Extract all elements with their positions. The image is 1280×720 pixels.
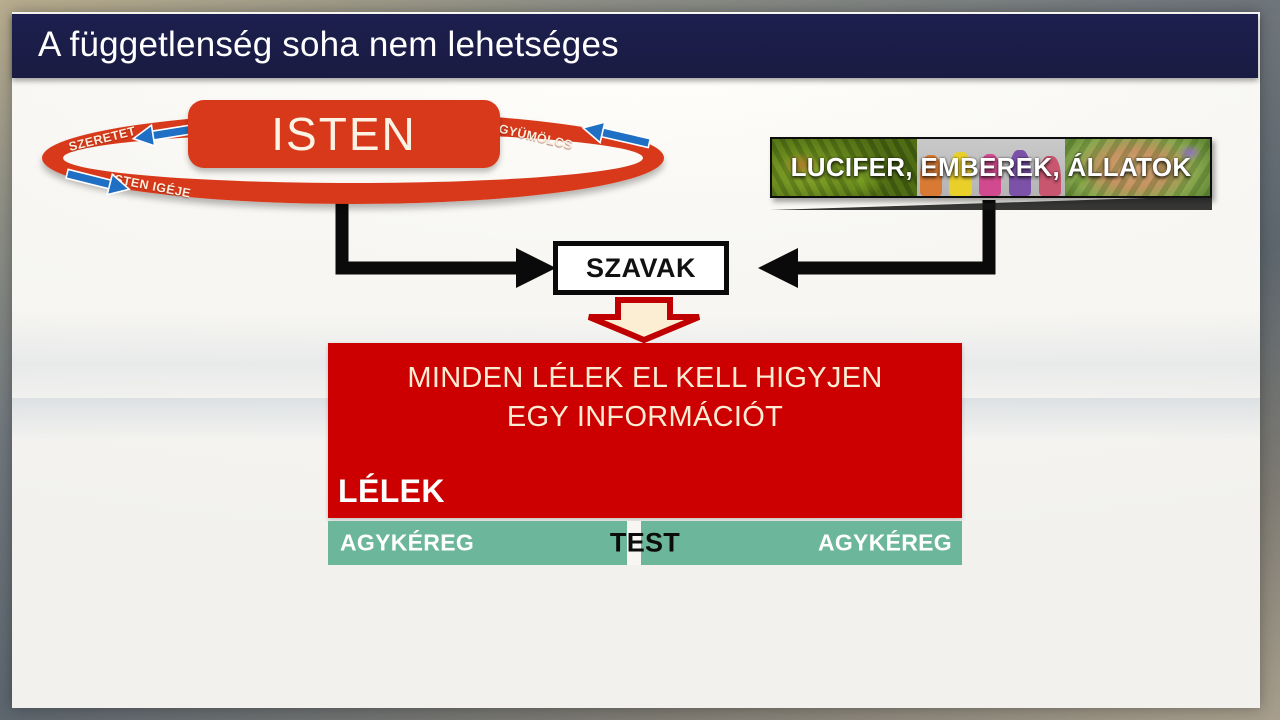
agykereg-label-right: AGYKÉREG	[818, 530, 952, 557]
isten-label: ISTEN	[271, 111, 416, 157]
message-block: MINDEN LÉLEK EL KELL HIGYJEN EGY INFORMÁ…	[328, 343, 962, 518]
photo-strip: LUCIFER, EMBEREK, ÁLLATOK	[770, 137, 1212, 198]
down-arrow-icon	[584, 297, 704, 343]
body-bar: AGYKÉREG TEST AGYKÉREG	[328, 521, 962, 565]
message-line-2: EGY INFORMÁCIÓT	[328, 398, 962, 437]
isten-box: ISTEN	[188, 100, 500, 168]
blue-arrow-isten-igeje	[62, 168, 134, 196]
lelek-label: LÉLEK	[338, 473, 445, 510]
message-line-1: MINDEN LÉLEK EL KELL HIGYJEN	[328, 359, 962, 398]
slide-root: A függetlenség soha nem lehetséges SZERE…	[0, 0, 1280, 720]
szavak-box: SZAVAK	[553, 241, 729, 295]
agykereg-label-left: AGYKÉREG	[340, 530, 474, 557]
page-title: A függetlenség soha nem lehetséges	[38, 25, 619, 65]
szavak-label: SZAVAK	[586, 253, 696, 284]
test-label: TEST	[610, 528, 680, 559]
photo-strip-label: LUCIFER, EMBEREK, ÁLLATOK	[772, 139, 1210, 196]
title-banner: A függetlenség soha nem lehetséges	[12, 14, 1258, 78]
message-text: MINDEN LÉLEK EL KELL HIGYJEN EGY INFORMÁ…	[328, 359, 962, 436]
blue-arrow-gyumolcs	[578, 122, 654, 150]
